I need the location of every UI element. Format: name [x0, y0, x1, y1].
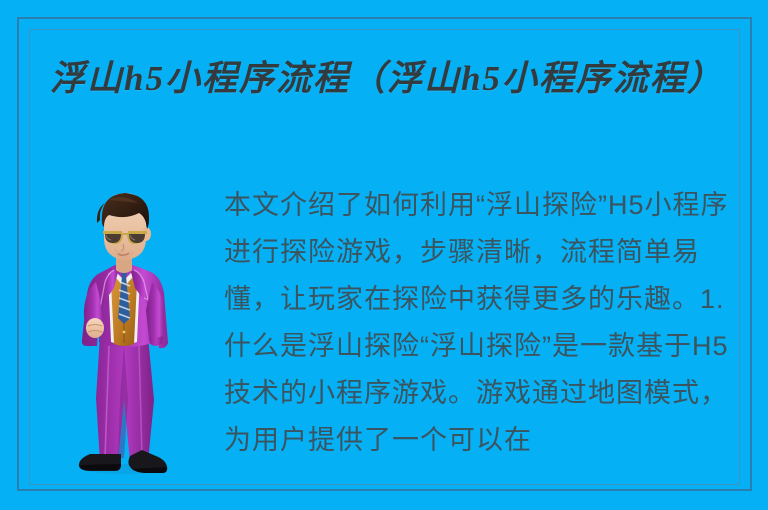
- poster-canvas: 浮山h5小程序流程（浮山h5小程序流程）: [0, 0, 768, 510]
- page-title: 浮山h5小程序流程（浮山h5小程序流程）: [50, 56, 720, 102]
- character-illustration: [62, 186, 188, 474]
- article-body-text: 本文介绍了如何利用“浮山探险”H5小程序进行探险游戏，步骤清晰，流程简单易懂，让…: [224, 182, 732, 464]
